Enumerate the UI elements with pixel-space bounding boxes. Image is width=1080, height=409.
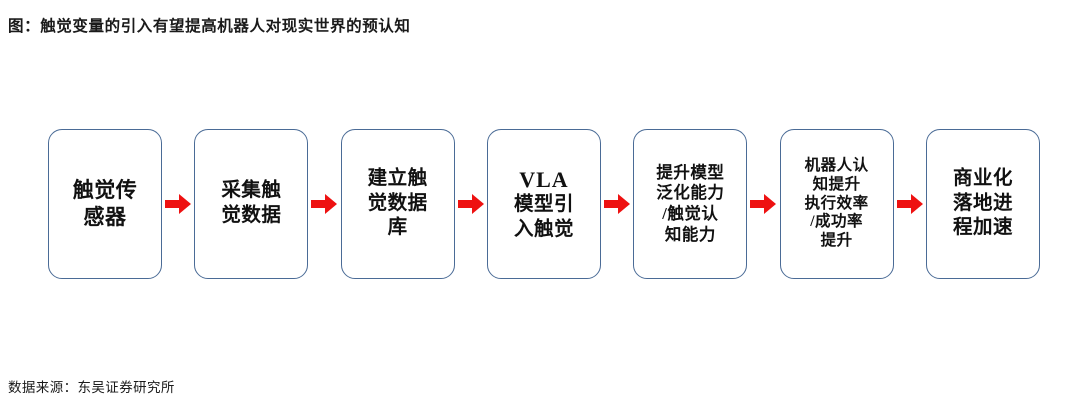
page-title: 图：触觉变量的引入有望提高机器人对现实世界的预认知: [8, 14, 411, 36]
flow-connector-3-to-4: [455, 129, 487, 279]
flow-step-label-5: 提升模型泛化能力/触觉认知能力: [656, 163, 724, 246]
flow-step-label-6-line: 提升: [805, 232, 869, 251]
flow-step-label-2-line: 觉数据: [221, 204, 281, 229]
flow-step-label-5-line: 提升模型: [656, 163, 724, 184]
flow-step-label-3-line: 觉数据: [368, 192, 428, 217]
process-flow-diagram: 触觉传感器采集触觉数据建立触觉数据库VLA模型引入触觉提升模型泛化能力/触觉认知…: [48, 128, 1040, 280]
flow-step-label-4-latin: VLA: [514, 166, 574, 194]
flow-step-label-2-line: 采集触: [221, 179, 281, 204]
flow-step-box-1: 触觉传感器: [48, 129, 162, 279]
flow-step-box-4: VLA模型引入触觉: [487, 129, 601, 279]
flow-step-label-1: 触觉传感器: [73, 177, 138, 232]
flow-step-box-2: 采集触觉数据: [194, 129, 308, 279]
flow-connector-5-to-6: [747, 129, 779, 279]
flow-step-box-3: 建立触觉数据库: [341, 129, 455, 279]
right-arrow-icon: [165, 193, 191, 215]
flow-step-label-3: 建立触觉数据库: [368, 167, 428, 241]
flow-step-label-7: 商业化落地进程加速: [953, 167, 1013, 241]
flow-step-label-4-line: 模型引: [514, 193, 574, 218]
flow-step-label-4: VLA模型引入触觉: [514, 166, 574, 243]
flow-step-label-5-line: /触觉认: [656, 204, 724, 225]
flow-step-label-4-line: 入触觉: [514, 218, 574, 243]
flow-connector-4-to-5: [601, 129, 633, 279]
flow-step-label-6-line: /成功率: [805, 213, 869, 232]
flow-step-label-5-line: 泛化能力: [656, 183, 724, 204]
flow-step-label-7-line: 商业化: [953, 167, 1013, 192]
right-arrow-icon: [458, 193, 484, 215]
flow-step-label-6-line: 机器人认: [805, 157, 869, 176]
flow-step-box-7: 商业化落地进程加速: [926, 129, 1040, 279]
flow-step-label-6-line: 知提升: [805, 176, 869, 195]
right-arrow-icon: [897, 193, 923, 215]
flow-connector-6-to-7: [894, 129, 926, 279]
flow-step-label-7-line: 程加速: [953, 216, 1013, 241]
flow-step-label-6-line: 执行效率: [805, 195, 869, 214]
flow-step-label-3-line: 库: [368, 216, 428, 241]
flow-step-label-7-line: 落地进: [953, 192, 1013, 217]
flow-step-label-3-line: 建立触: [368, 167, 428, 192]
flow-connector-2-to-3: [308, 129, 340, 279]
flow-step-label-1-line: 触觉传: [73, 177, 138, 204]
right-arrow-icon: [750, 193, 776, 215]
flow-step-box-6: 机器人认知提升执行效率/成功率提升: [780, 129, 894, 279]
flow-step-label-6: 机器人认知提升执行效率/成功率提升: [805, 157, 869, 252]
flow-step-box-5: 提升模型泛化能力/触觉认知能力: [633, 129, 747, 279]
flow-step-label-1-line: 感器: [73, 204, 138, 231]
flow-step-label-5-line: 知能力: [656, 225, 724, 246]
right-arrow-icon: [604, 193, 630, 215]
flow-connector-1-to-2: [162, 129, 194, 279]
flow-step-label-2: 采集触觉数据: [221, 179, 281, 228]
right-arrow-icon: [311, 193, 337, 215]
figure-source-note: 数据来源：东吴证券研究所: [8, 376, 175, 396]
